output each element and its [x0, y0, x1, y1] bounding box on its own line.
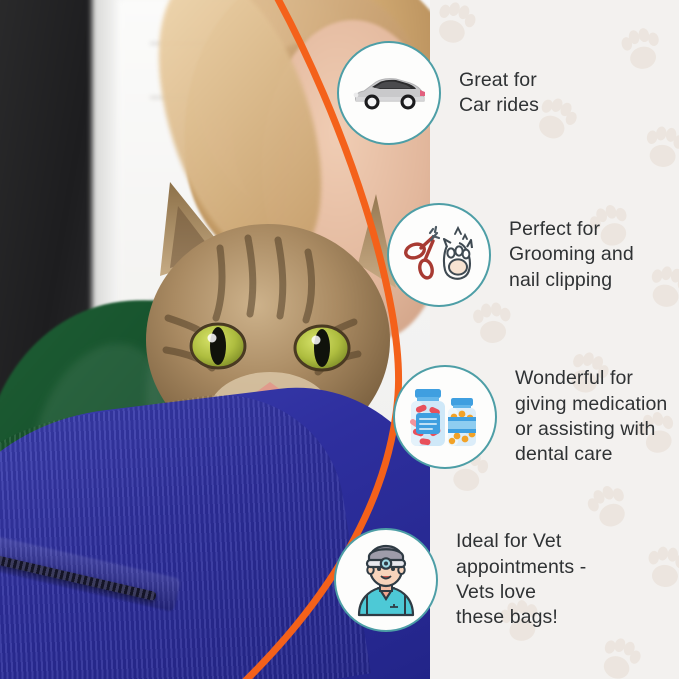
feature-item-medication[interactable]: Wonderful for giving medication or assis…: [393, 365, 667, 469]
veterinarian-icon: [349, 543, 423, 617]
feature-text: Perfect for Grooming and nail clipping: [509, 217, 634, 293]
feature-text: Ideal for Vet appointments - Vets love t…: [456, 529, 586, 630]
medicine-bottles-icon: [407, 384, 483, 450]
feature-item-car-rides[interactable]: Great for Car rides: [337, 41, 539, 145]
feature-infographic-poster: Great for Car rides: [0, 0, 679, 679]
feature-item-grooming[interactable]: Perfect for Grooming and nail clipping: [387, 203, 634, 307]
feature-badge: [393, 365, 497, 469]
feature-badge: [337, 41, 441, 145]
feature-text: Great for Car rides: [459, 68, 539, 119]
feature-text: Wonderful for giving medication or assis…: [515, 366, 667, 467]
feature-badge: [334, 528, 438, 632]
feature-item-vet[interactable]: Ideal for Vet appointments - Vets love t…: [334, 528, 586, 632]
feature-badge: [387, 203, 491, 307]
car-icon: [350, 71, 428, 115]
nail-clipper-paw-icon: [403, 224, 475, 286]
